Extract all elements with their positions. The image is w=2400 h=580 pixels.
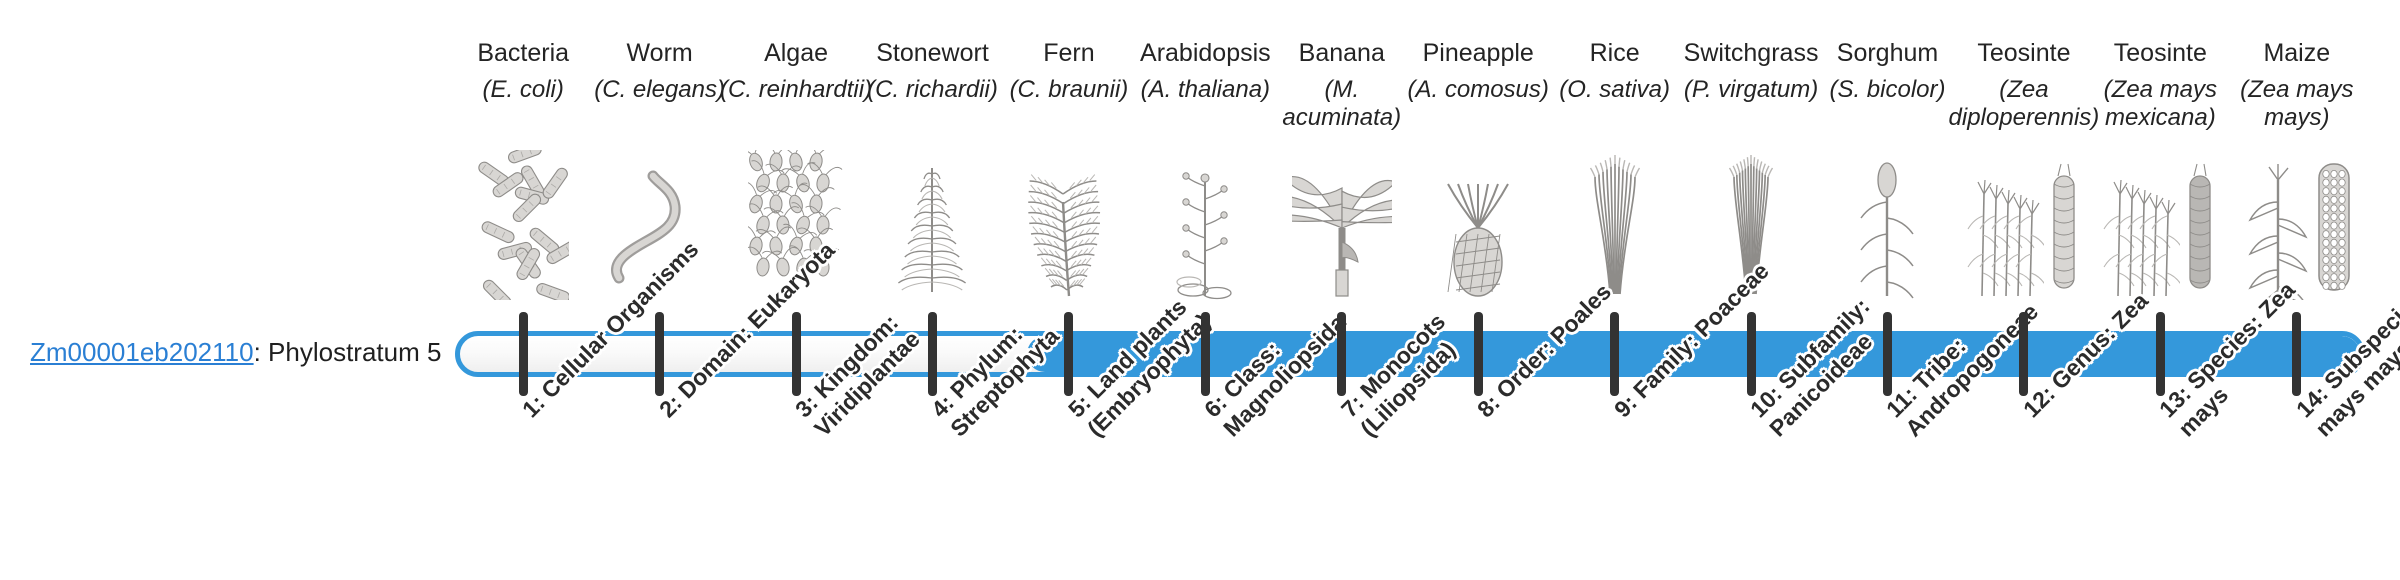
stratum-tick-6[interactable] (1201, 312, 1210, 396)
species-scientific-name: (Zea diploperennis) (1946, 76, 2102, 132)
species-scientific-name: (C. braunii) (991, 76, 1147, 104)
stratum-tick-2[interactable] (655, 312, 664, 396)
species-common-name: Teosinte (1946, 38, 2102, 68)
species-common-name: Algae (718, 38, 874, 68)
species-scientific-name: (A. thaliana) (1127, 76, 1283, 104)
species-common-name: Maize (2219, 38, 2375, 68)
stratum-tick-8[interactable] (1474, 312, 1483, 396)
species-common-name: Bacteria (445, 38, 601, 68)
species-header: Teosinte (Zea diploperennis) (1946, 38, 2102, 132)
species-header: Worm (C. elegans) (581, 38, 737, 104)
species-header: Sorghum (S. bicolor) (1809, 38, 1965, 104)
species-header: Bacteria (E. coli) (445, 38, 601, 104)
species-scientific-name: (E. coli) (445, 76, 601, 104)
stratum-tick-9[interactable] (1610, 312, 1619, 396)
species-scientific-name: (C. elegans) (581, 76, 737, 104)
species-header: Teosinte (Zea mays mexicana) (2082, 38, 2238, 132)
stratum-tick-13[interactable] (2156, 312, 2165, 396)
stratum-tick-3[interactable] (792, 312, 801, 396)
species-header: Stonewort (C. richardii) (854, 38, 1010, 104)
species-header: Maize (Zea mays mays) (2219, 38, 2375, 132)
phylostratum-value: : Phylostratum 5 (254, 337, 442, 367)
species-common-name: Rice (1536, 38, 1692, 68)
stratum-tick-7[interactable] (1337, 312, 1346, 396)
species-header: Arabidopsis (A. thaliana) (1127, 38, 1283, 104)
species-columns: Bacteria (E. coli) (455, 0, 2365, 580)
species-scientific-name: (A. comosus) (1400, 76, 1556, 104)
species-column-bacteria-1: Bacteria (E. coli) (455, 0, 591, 580)
gene-label: Zm00001eb202110: Phylostratum 5 (30, 337, 420, 368)
species-scientific-name: (M. acuminata) (1264, 76, 1420, 132)
species-scientific-name: (O. sativa) (1536, 76, 1692, 104)
species-header: Rice (O. sativa) (1536, 38, 1692, 104)
species-scientific-name: (C. richardii) (854, 76, 1010, 104)
stratum-tick-4[interactable] (928, 312, 937, 396)
stratum-tick-14[interactable] (2292, 312, 2301, 396)
stratum-tick-10[interactable] (1747, 312, 1756, 396)
species-common-name: Stonewort (854, 38, 1010, 68)
species-header: Fern (C. braunii) (991, 38, 1147, 104)
species-scientific-name: (P. virgatum) (1673, 76, 1829, 104)
species-header: Pineapple (A. comosus) (1400, 38, 1556, 104)
stratum-tick-5[interactable] (1064, 312, 1073, 396)
species-common-name: Worm (581, 38, 737, 68)
species-common-name: Pineapple (1400, 38, 1556, 68)
species-scientific-name: (C. reinhardtii) (718, 76, 874, 104)
species-header: Switchgrass (P. virgatum) (1673, 38, 1829, 104)
species-common-name: Fern (991, 38, 1147, 68)
species-header: Banana (M. acuminata) (1264, 38, 1420, 132)
species-scientific-name: (Zea mays mays) (2219, 76, 2375, 132)
stratum-tick-11[interactable] (1883, 312, 1892, 396)
species-scientific-name: (Zea mays mexicana) (2082, 76, 2238, 132)
species-common-name: Teosinte (2082, 38, 2238, 68)
phylostratum-timeline: Zm00001eb202110: Phylostratum 5 Bacteria… (0, 0, 2400, 580)
species-header: Algae (C. reinhardtii) (718, 38, 874, 104)
bacteria-icon (455, 150, 591, 300)
species-common-name: Sorghum (1809, 38, 1965, 68)
stratum-tick-12[interactable] (2019, 312, 2028, 396)
stratum-tick-1[interactable] (519, 312, 528, 396)
species-common-name: Banana (1264, 38, 1420, 68)
species-scientific-name: (S. bicolor) (1809, 76, 1965, 104)
species-common-name: Switchgrass (1673, 38, 1829, 68)
species-common-name: Arabidopsis (1127, 38, 1283, 68)
gene-accession-link[interactable]: Zm00001eb202110 (30, 337, 254, 367)
